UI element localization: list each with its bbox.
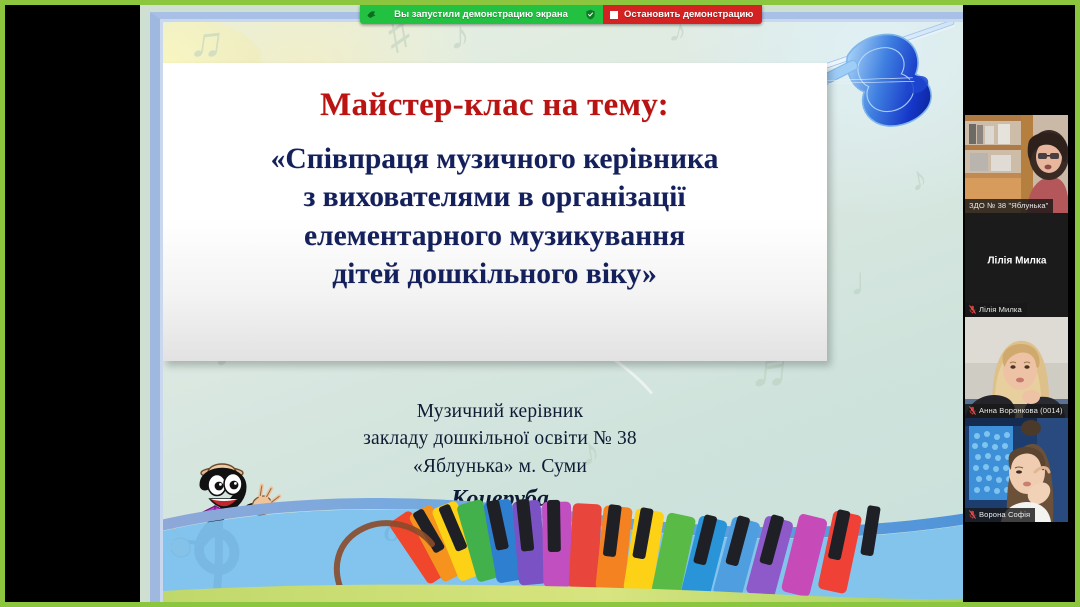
screen-share-notification-bar: Вы запустили демонстрацию экрана Останов… <box>360 5 762 24</box>
shield-icon[interactable] <box>585 9 596 20</box>
share-status-banner: Вы запустили демонстрацию экрана <box>360 5 603 24</box>
participant-video-strip[interactable]: ЗДО № 38 "Яблунька" Лілія Милка Лілія Ми… <box>963 5 1070 602</box>
mic-muted-icon <box>969 406 976 415</box>
participant-name: Анна Воронкова (0014) <box>979 406 1063 415</box>
stop-square-icon <box>610 11 618 19</box>
slide-canvas: ♫ ♩ ♯ ♪ ♪ ♫ ♩ ♪ ♬ ♩ ♪ <box>150 12 973 607</box>
participant-name: ЗДО № 38 "Яблунька" <box>969 201 1048 210</box>
stop-sharing-label: Остановить демонстрацию <box>624 9 753 20</box>
participant-tile[interactable]: ЗДО № 38 "Яблунька" <box>965 115 1069 213</box>
mic-muted-icon <box>969 305 976 314</box>
panel-scrollbar[interactable] <box>1068 5 1070 602</box>
mic-muted-icon <box>969 510 976 519</box>
participant-tile[interactable]: Ворона Софія <box>965 418 1069 522</box>
participant-name: Ворона Софія <box>979 510 1030 519</box>
stop-sharing-button[interactable]: Остановить демонстрацию <box>603 5 762 24</box>
participant-name: Лілія Милка <box>979 305 1022 314</box>
participant-name-chip: Анна Воронкова (0014) <box>965 404 1068 419</box>
share-status-label: Вы запустили демонстрацию экрана <box>384 9 578 20</box>
shared-screen-slide: ♫ ♩ ♯ ♪ ♪ ♫ ♩ ♪ ♬ ♩ ♪ <box>140 5 973 607</box>
participant-video-feed <box>965 418 1069 522</box>
meeting-screen: ♫ ♩ ♯ ♪ ♪ ♫ ♩ ♪ ♬ ♩ ♪ <box>0 0 1080 607</box>
participant-tile[interactable]: Анна Воронкова (0014) <box>965 317 1069 418</box>
participant-name-chip: Лілія Милка <box>965 303 1027 318</box>
screen-share-icon <box>366 9 377 20</box>
participant-name-chip: ЗДО № 38 "Яблунька" <box>965 199 1053 214</box>
slide-frame-border <box>150 12 973 607</box>
participant-name-chip: Ворона Софія <box>965 508 1035 523</box>
participant-tile[interactable]: Лілія Милка Лілія Милка <box>965 213 1069 317</box>
participant-center-name: Лілія Милка <box>965 255 1069 266</box>
